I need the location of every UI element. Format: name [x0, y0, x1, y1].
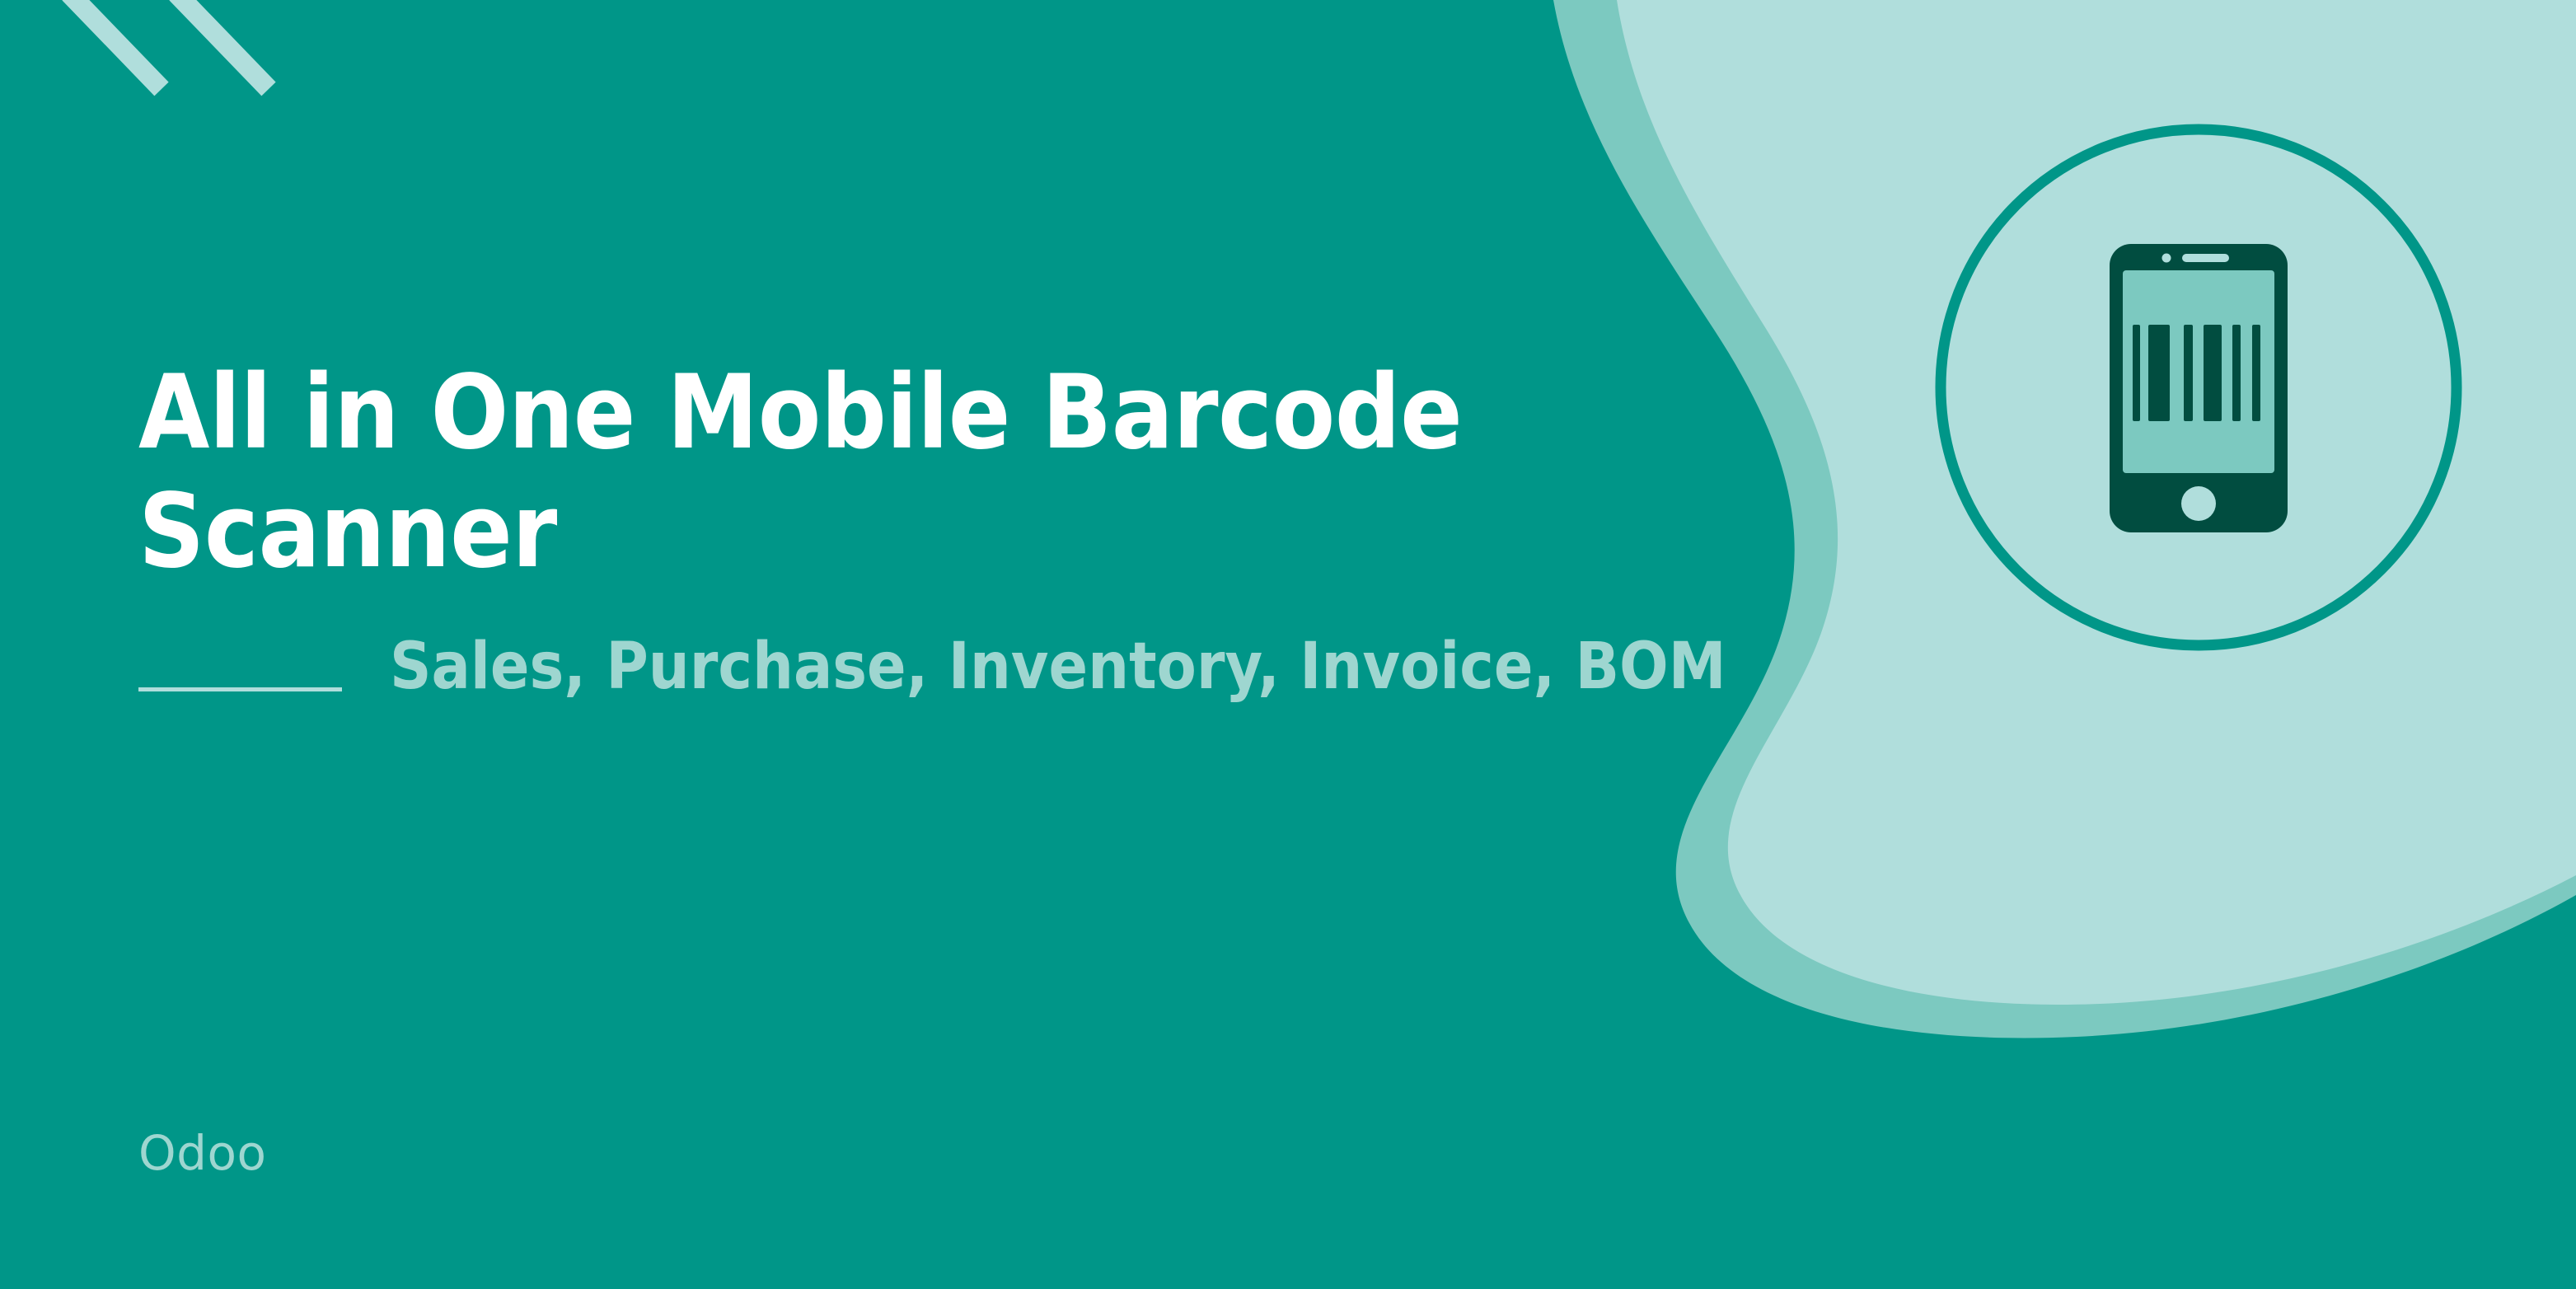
subtitle-text: Sales, Purchase, Inventory, Invoice, BOM — [342, 628, 1726, 706]
barcode-bar — [2252, 325, 2260, 421]
subtitle-row: Sales, Purchase, Inventory, Invoice, BOM — [138, 628, 1754, 706]
subtitle-rule-divider — [138, 687, 342, 691]
barcode-bar — [2232, 325, 2241, 421]
brand-label: Odoo — [138, 1129, 266, 1177]
marketing-banner: All in One Mobile Barcode Scanner Sales,… — [0, 0, 2576, 1289]
barcode-bar — [2204, 325, 2222, 421]
speaker-grille-icon — [2182, 254, 2229, 262]
barcode-bar — [2133, 325, 2140, 421]
page-title: All in One Mobile Barcode Scanner — [138, 354, 1704, 592]
phone-screen — [2123, 270, 2274, 473]
headline-block: All in One Mobile Barcode Scanner Sales,… — [138, 354, 1754, 706]
barcode-bar — [2184, 325, 2193, 421]
home-button-icon — [2181, 486, 2216, 521]
barcode-bar — [2148, 325, 2170, 421]
camera-dot-icon — [2162, 254, 2171, 263]
